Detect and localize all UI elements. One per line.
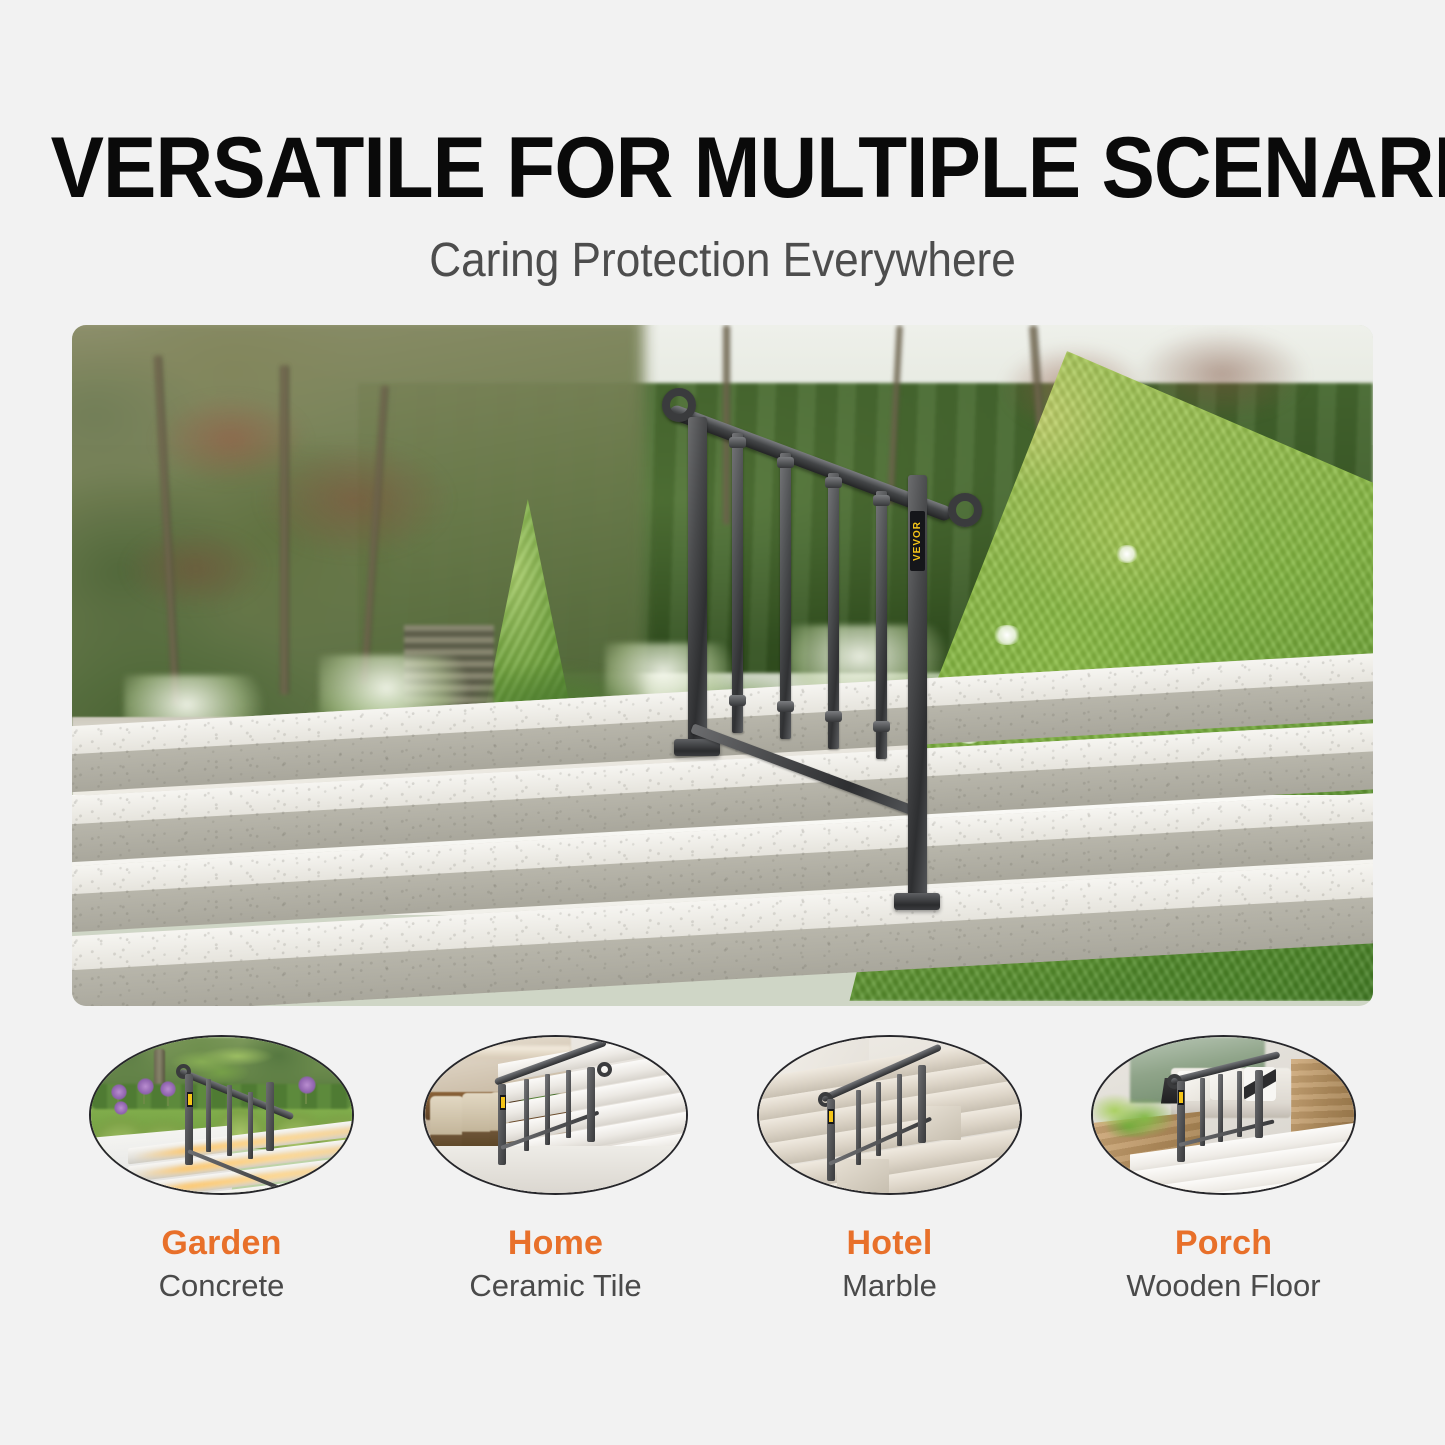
garden-rail-baluster (206, 1079, 211, 1152)
home-rail-upper-post (587, 1067, 595, 1142)
porch-thumbnail-image[interactable] (1091, 1035, 1356, 1195)
home-tile-floor (425, 1146, 686, 1193)
garden-rail-baluster (248, 1092, 253, 1159)
scenario-title-hotel: Hotel (847, 1223, 933, 1263)
scenario-thumbnail-row: Garden Concrete (0, 1035, 1445, 1305)
garden-thumbnail-image[interactable] (89, 1035, 354, 1195)
allium-flower (137, 1078, 154, 1095)
garden-rail-baluster (227, 1085, 232, 1155)
porch-vevor-badge (1178, 1090, 1184, 1105)
hero-image: VEVOR (72, 325, 1373, 1006)
page-title: VERSATILE FOR MULTIPLE SCENARIOS (51, 122, 1395, 214)
garden-steps (128, 1127, 354, 1195)
scenario-card-hotel[interactable]: Hotel Marble (757, 1035, 1022, 1305)
home-rail-baluster (545, 1074, 550, 1144)
scenario-title-porch: Porch (1175, 1223, 1272, 1263)
allium-flower (111, 1084, 127, 1100)
porch-green-shrub (1091, 1093, 1177, 1137)
bush-flower (992, 625, 1022, 645)
garden-vevor-badge (187, 1092, 193, 1107)
hotel-rail-upper-post (918, 1065, 926, 1143)
hotel-thumbnail-image[interactable] (757, 1035, 1022, 1195)
scenario-card-home[interactable]: Home Ceramic Tile (423, 1035, 688, 1305)
scenario-card-garden[interactable]: Garden Concrete (89, 1035, 354, 1305)
home-thumbnail-image[interactable] (423, 1035, 688, 1195)
garden-rail-lower-post (266, 1082, 274, 1151)
scenario-subtitle-porch: Wooden Floor (1126, 1267, 1320, 1305)
scenario-title-home: Home (508, 1223, 603, 1263)
scenario-title-garden: Garden (161, 1223, 281, 1263)
bush-flower (1115, 545, 1139, 563)
hero-garden-scene: VEVOR (72, 325, 1373, 1006)
page-subtitle: Caring Protection Everywhere (58, 232, 1387, 290)
porch-rail-upper-post (1255, 1070, 1263, 1139)
scenario-card-porch[interactable]: Porch Wooden Floor (1091, 1035, 1356, 1305)
scenario-subtitle-home: Ceramic Tile (469, 1267, 641, 1305)
hotel-step-block (837, 1159, 889, 1193)
scenario-subtitle-hotel: Marble (842, 1267, 937, 1305)
home-vevor-badge (500, 1095, 506, 1110)
tree-trunk (723, 325, 730, 525)
hotel-vevor-badge (828, 1109, 834, 1124)
scenario-subtitle-garden: Concrete (159, 1267, 285, 1305)
granite-steps (72, 721, 1373, 1006)
home-rail-baluster (566, 1070, 571, 1139)
tree-trunk (280, 365, 289, 695)
allium-flower (160, 1081, 176, 1097)
